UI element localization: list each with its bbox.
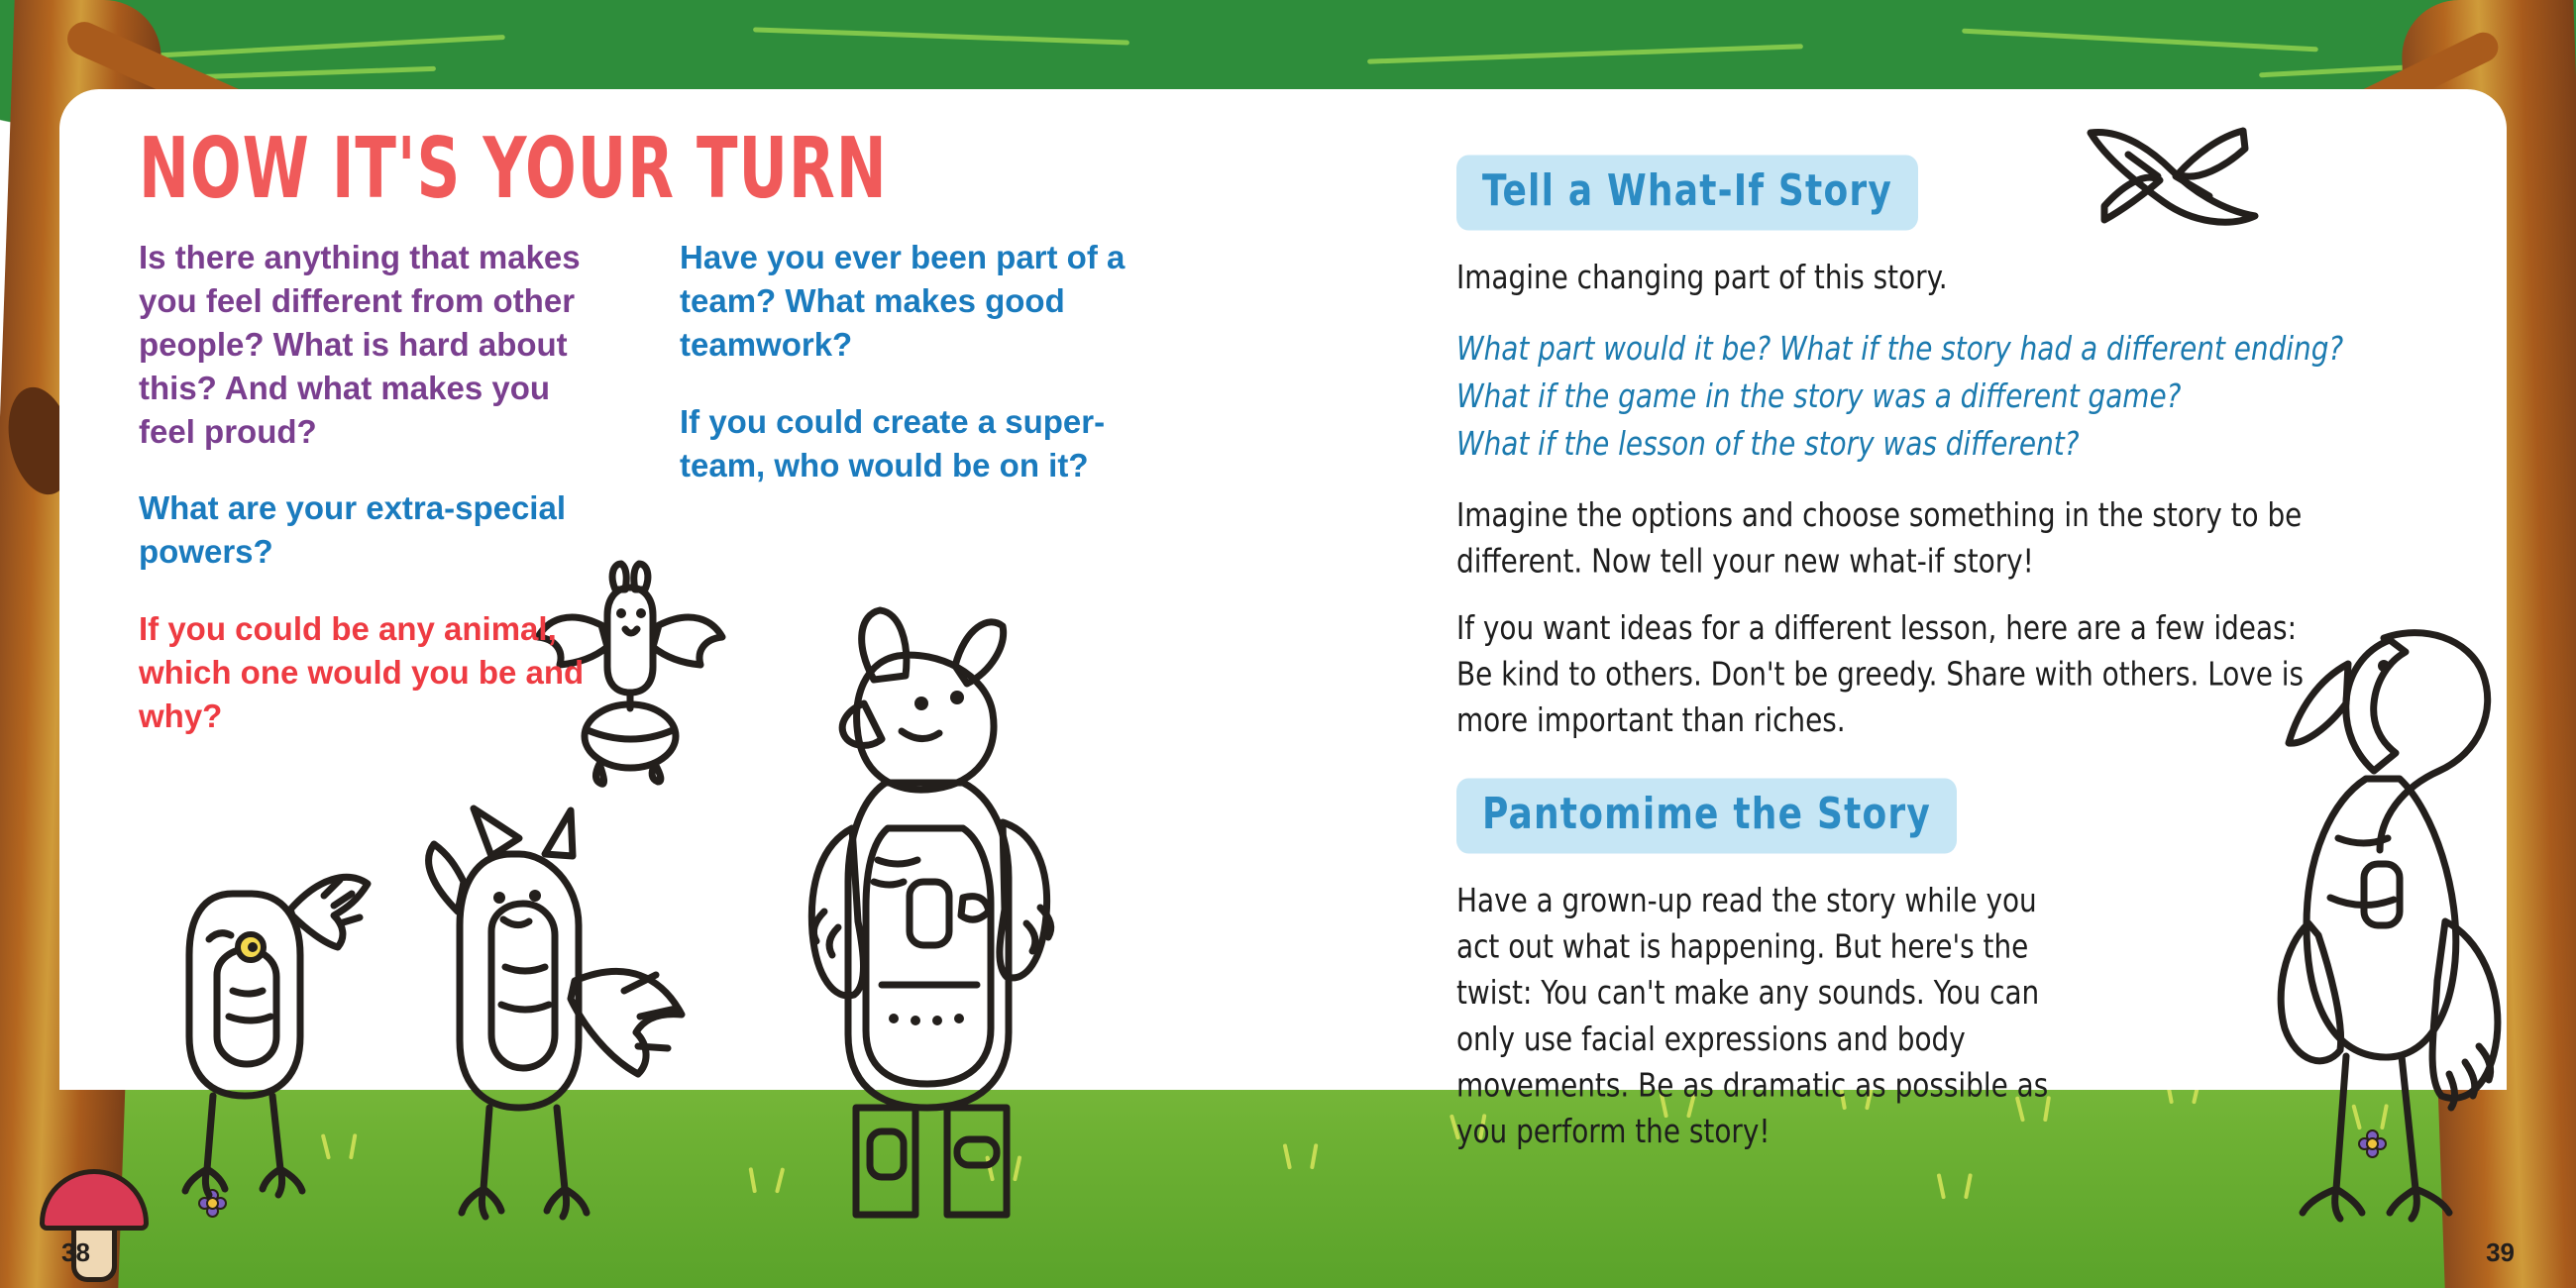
- prompt-text: If you could create a super-team, who wo…: [680, 400, 1155, 487]
- left-page-content: NOW IT'S YOUR TURN Is there anything tha…: [139, 119, 1278, 738]
- section-heading: Pantomime the Story: [1456, 779, 1957, 854]
- section-paragraph: Imagine the options and choose something…: [1456, 492, 2318, 585]
- what-if-question-list: What part would it be? What if the story…: [1456, 324, 2388, 467]
- section-heading: Tell a What-If Story: [1456, 156, 1918, 231]
- prompt-columns: Is there anything that makes you feel di…: [139, 236, 1278, 738]
- what-if-question: What if the lesson of the story was diff…: [1456, 419, 2388, 470]
- fox-character-illustration: [396, 793, 723, 1229]
- section-paragraph: If you want ideas for a different lesson…: [1456, 605, 2318, 744]
- what-if-question: What if the game in the story was a diff…: [1456, 372, 2388, 422]
- what-if-question: What part would it be? What if the story…: [1456, 324, 2388, 375]
- prompt-column-1: Is there anything that makes you feel di…: [139, 236, 614, 738]
- page-number-left: 38: [61, 1237, 90, 1268]
- section-paragraph: Have a grown-up read the story while you…: [1456, 878, 2051, 1155]
- section-pantomime-the-story: Pantomime the Story Have a grown-up read…: [1456, 782, 2388, 1139]
- lizard-character-illustration: [173, 852, 421, 1229]
- right-page-content: Tell a What-If Story Imagine changing pa…: [1456, 159, 2388, 1165]
- page-title: NOW IT'S YOUR TURN: [139, 119, 1210, 217]
- book-spread: NOW IT'S YOUR TURN Is there anything tha…: [0, 0, 2576, 1288]
- section-intro: Imagine changing part of this story.: [1456, 255, 2388, 301]
- prompt-text: If you could be any animal, which one wo…: [139, 607, 614, 738]
- page-number-right: 39: [2486, 1237, 2515, 1268]
- prompt-text: Is there anything that makes you feel di…: [139, 236, 614, 453]
- section-tell-a-what-if-story: Tell a What-If Story Imagine changing pa…: [1456, 159, 2388, 736]
- prompt-text: Have you ever been part of a team? What …: [680, 236, 1155, 367]
- prompt-column-2: Have you ever been part of a team? What …: [680, 236, 1155, 738]
- prompt-text: What are your extra-special powers?: [139, 486, 614, 574]
